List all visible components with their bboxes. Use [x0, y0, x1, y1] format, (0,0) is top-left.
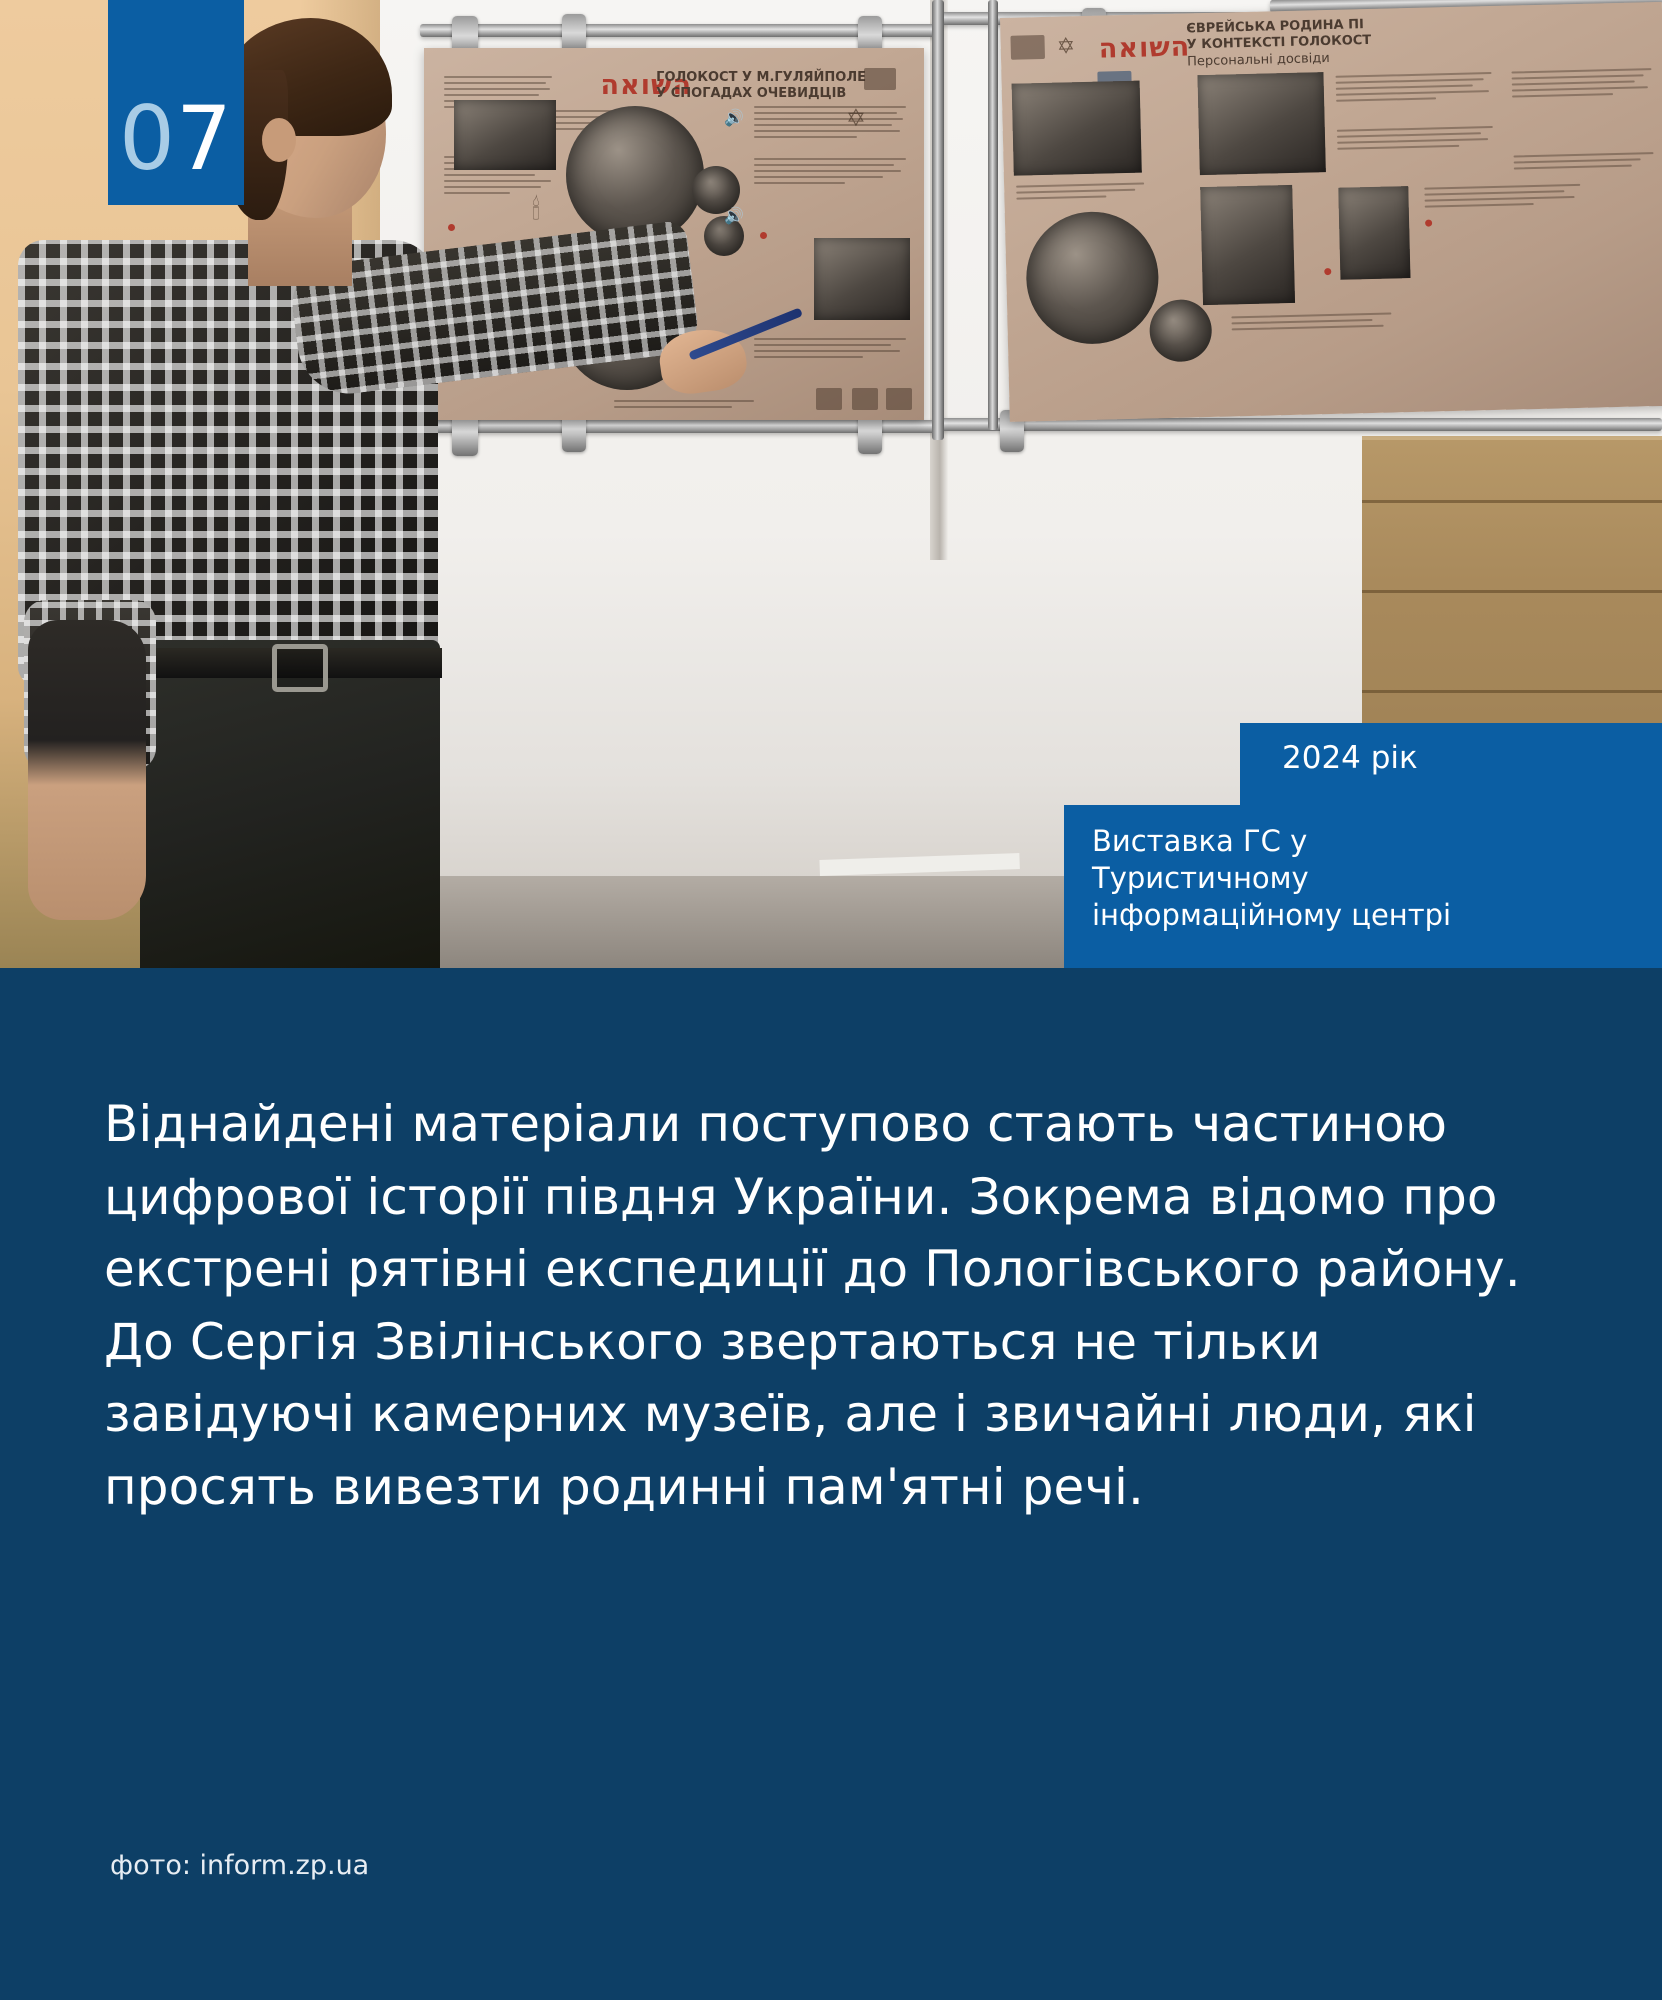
hanging-rail-vertical-2 — [988, 0, 998, 430]
star-of-david-icon: ✡ — [1056, 36, 1075, 58]
poster-logo-icon — [1010, 35, 1045, 60]
poster-portrait-circle — [566, 106, 704, 244]
ear — [262, 118, 296, 162]
story-card: השואה ГОЛОКОСТ У М.ГУЛЯЙПОЛЕ У СПОГАДАХ … — [0, 0, 1662, 2000]
poster-footer-logo — [816, 388, 842, 410]
poster-marker-dot — [1324, 268, 1331, 275]
caption-year-box: 2024 рік — [1240, 723, 1662, 805]
caption-subtitle-text: Виставка ГС у Туристичному інформаційном… — [1092, 823, 1642, 934]
left-forearm — [28, 620, 146, 920]
slide-number-badge: 07 — [108, 0, 244, 205]
poster-footer-logo — [852, 388, 878, 410]
hanging-rail-vertical — [932, 0, 944, 440]
poster-archive-photo — [1197, 72, 1325, 175]
poster-logo-icon — [864, 68, 896, 90]
body-paragraph: Віднайдені матеріали поступово стають ча… — [104, 1088, 1564, 1523]
caption-year-text: 2024 рік — [1282, 741, 1662, 775]
slide-number-dim-digit: 0 — [119, 87, 176, 190]
poster-marker-dot — [760, 232, 767, 239]
photo-region: השואה ГОЛОКОСТ У М.ГУЛЯЙПОЛЕ У СПОГАДАХ … — [0, 0, 1662, 968]
poster-portrait-circle — [1025, 210, 1160, 345]
photo-credit: фото: inform.zp.ua — [110, 1850, 369, 1881]
poster-group-photo — [814, 238, 910, 320]
poster-family-photo — [1012, 81, 1142, 176]
slide-number-bright-digit: 7 — [176, 87, 233, 190]
poster-archive-photo — [454, 100, 556, 170]
exhibition-poster-right: השואה ЄВРЕЙСЬКА РОДИНА ПІ У КОНТЕКСТІ ГО… — [1000, 2, 1662, 422]
poster-portrait-photo — [1200, 185, 1295, 305]
slide-number-text: 07 — [119, 95, 233, 183]
poster-portrait-photo — [1338, 186, 1410, 280]
poster-left-title-line1: ГОЛОКОСТ У М.ГУЛЯЙПОЛЕ — [656, 70, 866, 86]
poster-left-title-line2: У СПОГАДАХ ОЧЕВИДЦІВ — [656, 86, 866, 102]
poster-footer-logo — [886, 388, 912, 410]
poster-portrait-small — [1149, 299, 1212, 362]
sound-icon: 🔊 — [724, 110, 744, 126]
poster-right-hebrew-title: השואה — [1098, 31, 1190, 64]
belt-buckle — [272, 644, 328, 692]
caption-subtitle-box: Виставка ГС у Туристичному інформаційном… — [1064, 805, 1662, 968]
sound-icon: 🔊 — [724, 208, 744, 224]
poster-marker-dot — [448, 224, 455, 231]
body-region: Віднайдені матеріали поступово стають ча… — [0, 968, 1662, 2000]
candle-icon: 🕯 — [532, 196, 540, 224]
poster-marker-dot — [1425, 220, 1432, 227]
